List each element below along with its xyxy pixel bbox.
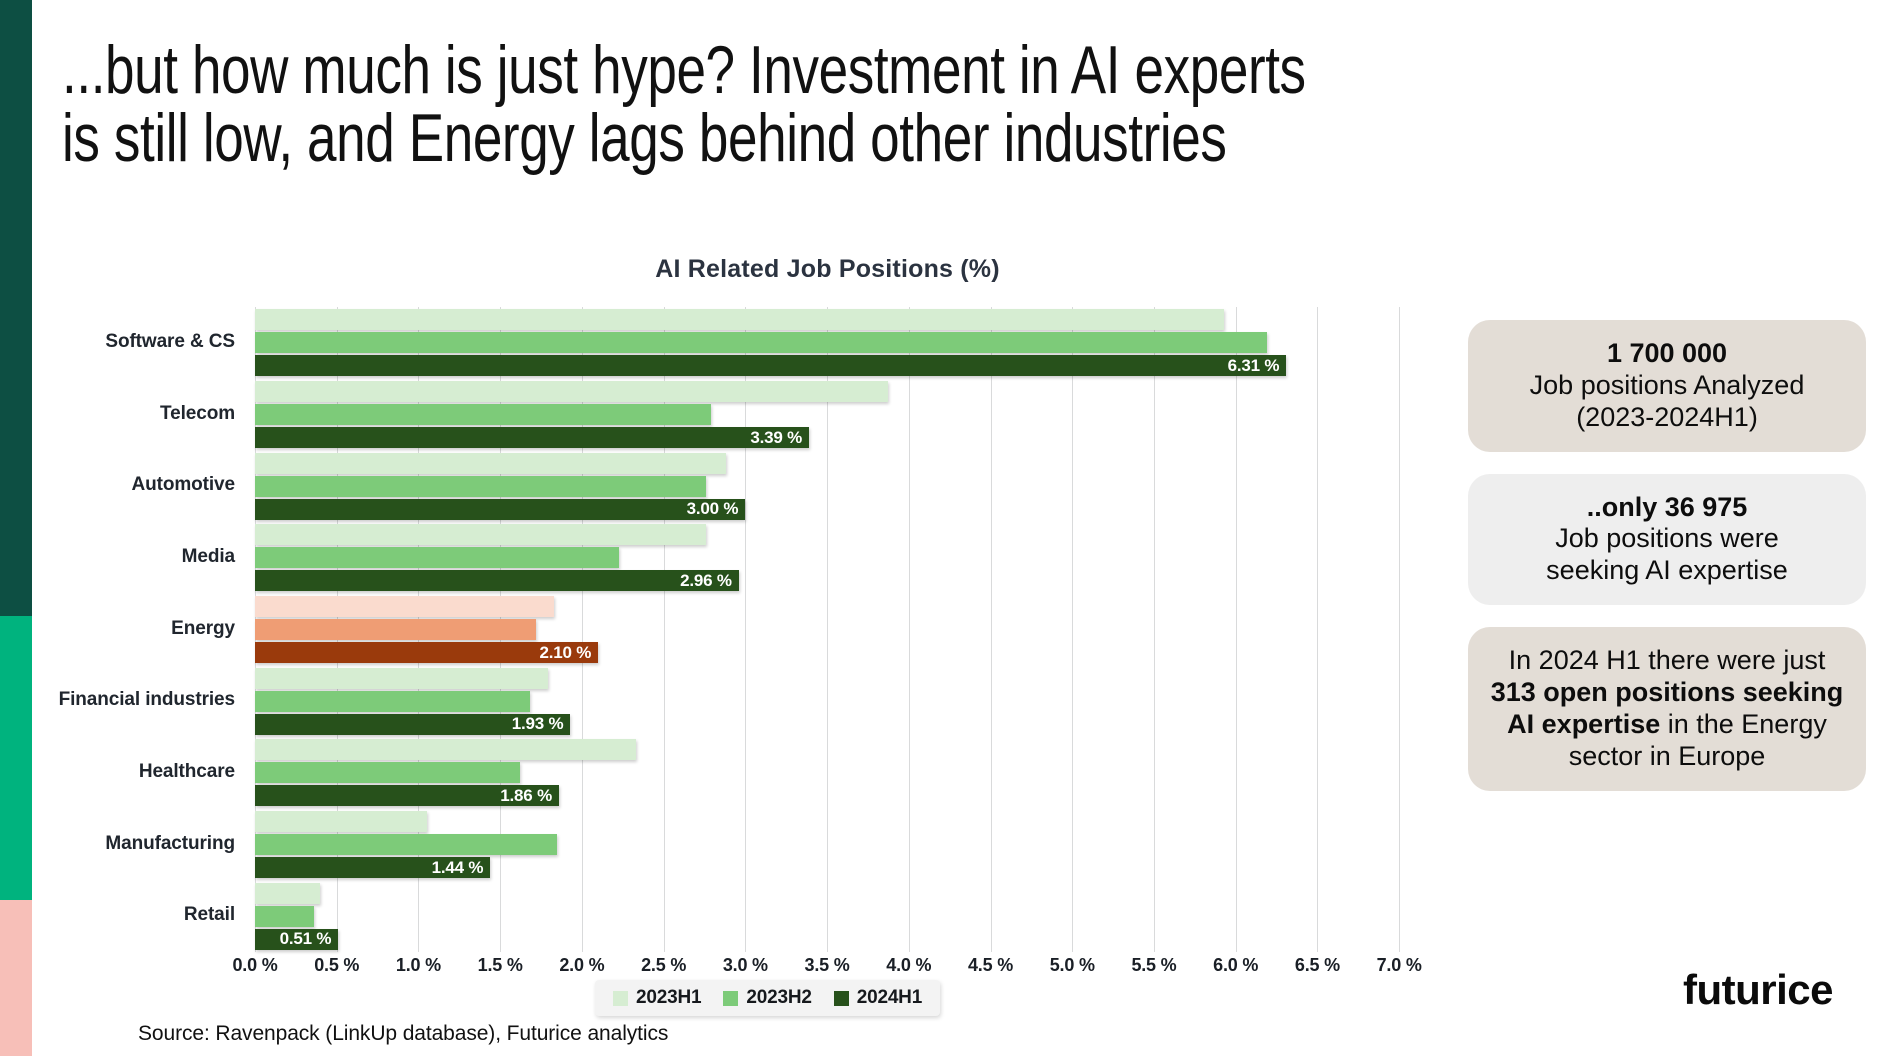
- gridline: [827, 307, 828, 952]
- chart-category-label: Manufacturing: [105, 833, 235, 855]
- chart-bar: [255, 332, 1267, 353]
- chart-category-label: Telecom: [160, 403, 235, 425]
- chart-x-tick-label: 1.0 %: [396, 955, 441, 976]
- chart-bar: 2.96 %: [255, 570, 739, 591]
- left-edge-decoration: [0, 0, 32, 1056]
- chart-bar: [255, 906, 314, 927]
- chart-bar: [255, 739, 636, 760]
- chart-category-label: Energy: [171, 618, 235, 640]
- slide-canvas: ...but how much is just hype? Investment…: [0, 0, 1881, 1056]
- futurice-logo: futurice: [1683, 966, 1833, 1014]
- chart-bar: 0.51 %: [255, 929, 338, 950]
- gridline: [1317, 307, 1318, 952]
- legend-swatch-icon: [723, 991, 738, 1006]
- legend-item[interactable]: 2023H2: [723, 987, 811, 1009]
- chart-plot: Software & CSTelecomAutomotiveMediaEnerg…: [55, 307, 1430, 952]
- gridline: [991, 307, 992, 952]
- chart-bar: [255, 668, 548, 689]
- chart-category-label: Media: [182, 546, 235, 568]
- chart-bar: [255, 811, 427, 832]
- chart-x-tick-label: 2.0 %: [559, 955, 604, 976]
- chart-bar: 3.00 %: [255, 499, 745, 520]
- chart-bar-value-label: 2.96 %: [680, 571, 732, 591]
- chart-bar: [255, 309, 1224, 330]
- chart-bar: [255, 596, 554, 617]
- legend-item[interactable]: 2023H1: [613, 987, 701, 1009]
- edge-pink-block: [0, 900, 32, 1056]
- gridline: [745, 307, 746, 952]
- chart-bar-value-label: 1.44 %: [432, 858, 484, 878]
- chart-bar: [255, 834, 557, 855]
- legend-label: 2023H1: [636, 987, 701, 1009]
- legend-item[interactable]: 2024H1: [834, 987, 922, 1009]
- chart-x-tick-label: 6.5 %: [1295, 955, 1340, 976]
- chart-bar: 1.86 %: [255, 785, 559, 806]
- chart-category-label: Healthcare: [139, 761, 235, 783]
- chart-x-tick-label: 6.0 %: [1213, 955, 1258, 976]
- stat-cards: 1 700 000Job positions Analyzed(2023-202…: [1468, 320, 1866, 813]
- gridline: [1072, 307, 1073, 952]
- chart-bar: [255, 547, 619, 568]
- chart-bar: 2.10 %: [255, 642, 598, 663]
- chart-x-tick-label: 1.5 %: [478, 955, 523, 976]
- chart-bar-value-label: 2.10 %: [540, 643, 592, 663]
- chart-x-tick-label: 0.0 %: [232, 955, 277, 976]
- chart-category-label: Software & CS: [105, 331, 235, 353]
- chart-bar: [255, 762, 520, 783]
- chart-x-tick-label: 7.0 %: [1377, 955, 1422, 976]
- chart-category-axis: Software & CSTelecomAutomotiveMediaEnerg…: [55, 307, 247, 952]
- chart-x-tick-label: 5.0 %: [1050, 955, 1095, 976]
- chart-bar: [255, 619, 536, 640]
- edge-teal-block: [0, 0, 32, 620]
- stat-card: 1 700 000Job positions Analyzed(2023-202…: [1468, 320, 1866, 452]
- gridline: [909, 307, 910, 952]
- legend-label: 2023H2: [746, 987, 811, 1009]
- chart-x-tick-label: 2.5 %: [641, 955, 686, 976]
- legend-swatch-icon: [834, 991, 849, 1006]
- chart-plot-area: 6.31 %3.39 %3.00 %2.96 %2.10 %1.93 %1.86…: [255, 307, 1440, 952]
- chart-bar-value-label: 1.86 %: [500, 786, 552, 806]
- legend-swatch-icon: [613, 991, 628, 1006]
- chart-bar: [255, 476, 706, 497]
- chart-container: AI Related Job Positions (%) Software & …: [55, 255, 1430, 995]
- chart-bar: 1.44 %: [255, 857, 490, 878]
- slide-headline: ...but how much is just hype? Investment…: [62, 36, 1466, 172]
- chart-bar-value-label: 3.39 %: [750, 428, 802, 448]
- chart-category-label: Retail: [184, 904, 235, 926]
- gridline: [1399, 307, 1400, 952]
- legend-label: 2024H1: [857, 987, 922, 1009]
- chart-bar: [255, 524, 706, 545]
- stat-card: In 2024 H1 there were just 313 open posi…: [1468, 627, 1866, 790]
- chart-legend[interactable]: 2023H12023H22024H1: [595, 980, 940, 1016]
- chart-category-label: Automotive: [131, 474, 235, 496]
- chart-bar: [255, 404, 711, 425]
- chart-bar: [255, 883, 320, 904]
- source-note: Source: Ravenpack (LinkUp database), Fut…: [138, 1022, 668, 1046]
- chart-bar: 1.93 %: [255, 714, 570, 735]
- chart-title: AI Related Job Positions (%): [55, 255, 1430, 284]
- chart-bar: [255, 381, 888, 402]
- chart-x-tick-label: 4.0 %: [886, 955, 931, 976]
- chart-bar-value-label: 1.93 %: [512, 714, 564, 734]
- chart-x-tick-label: 3.0 %: [723, 955, 768, 976]
- edge-green-block: [0, 616, 32, 902]
- chart-category-label: Financial industries: [59, 689, 235, 711]
- chart-bar-value-label: 3.00 %: [687, 499, 739, 519]
- chart-bar: [255, 453, 726, 474]
- stat-card: ..only 36 975Job positions wereseeking A…: [1468, 474, 1866, 606]
- gridline: [1154, 307, 1155, 952]
- chart-x-tick-label: 5.5 %: [1131, 955, 1176, 976]
- chart-bar-value-label: 0.51 %: [280, 929, 332, 949]
- chart-bar: [255, 691, 530, 712]
- chart-x-tick-label: 4.5 %: [968, 955, 1013, 976]
- chart-bar: 3.39 %: [255, 427, 809, 448]
- chart-bar-value-label: 6.31 %: [1228, 356, 1280, 376]
- gridline: [1236, 307, 1237, 952]
- chart-bar: 6.31 %: [255, 355, 1286, 376]
- chart-x-tick-label: 3.5 %: [805, 955, 850, 976]
- chart-x-tick-label: 0.5 %: [314, 955, 359, 976]
